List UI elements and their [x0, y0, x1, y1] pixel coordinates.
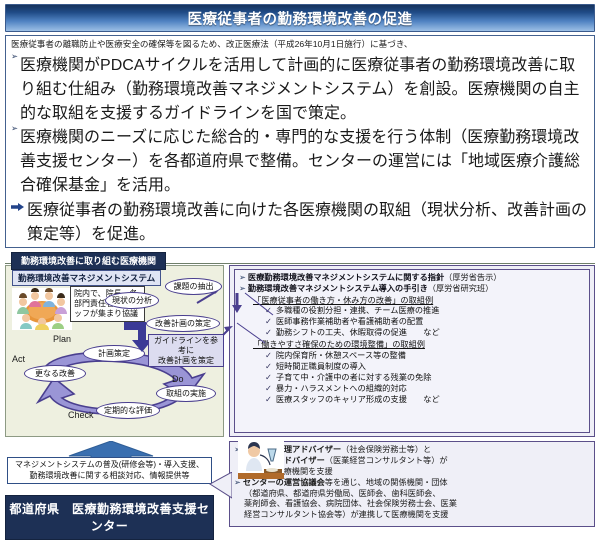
guideline-item-2-note: （厚労省研究班）: [428, 284, 494, 293]
check-icon: ✓: [265, 395, 272, 406]
intro-bullet-1: ➢ 医療機関がPDCAサイクルを活用して計画的に医療従事者の勤務環境改善に取り組…: [11, 51, 589, 123]
section-tab-hospitals: 勤務環境改善に取り組む医療機関: [11, 252, 166, 270]
group-2-check-3: ✓ 子育て中・介護中の者に対する残業の免除: [265, 373, 585, 384]
group-1-heading: 「医療従事者の働き方・休み方の改善」の取組例: [253, 296, 585, 307]
intro-conclusion: 医療従事者の勤務環境改善に向けた各医療機関の取組（現状分析、改善計画の策定等）を…: [11, 196, 589, 244]
role-2-orgs-line1: （都道府県、都道府県労働局、医師会、歯科医師会、: [244, 489, 441, 498]
mid-section: 勤務環境改善マネジメントシステム: [5, 265, 595, 437]
role-1-paren-1: （社会保険労務士等）と: [341, 445, 431, 454]
group-2-heading: 「働きやすさ確保のための環境整備」の取組例: [253, 340, 585, 351]
left-notch-icon: [204, 472, 232, 502]
bullet-mark-icon: ➢: [11, 123, 18, 134]
group-2-check-5: ✓ 医療スタッフのキャリア形成の支援 など: [265, 395, 585, 406]
intro-bullet-2: ➢ 医療機関のニーズに応じた総合的・専門的な支援を行う体制（医療勤務環境改善支援…: [11, 123, 589, 195]
center-support-column: マネジメントシステムの普及(研修会等)・導入支援、 勤務環境改善に関する相談対応…: [5, 441, 224, 527]
pdca-stage-plan: Plan: [53, 334, 71, 344]
role-2-orgs-line3: 経営コンサルタント協会等）が連携して医療機関を支援: [244, 510, 448, 519]
center-banner: 都道府県 医療勤務環境改善支援センター: [5, 495, 214, 540]
role-item-2: ➢ センターの運営協議会等を通じ、地域の関係機関・団体: [234, 478, 590, 489]
guideline-item-1: ➢ 医療勤務環境改善マネジメントシステムに関する指針（厚労省告示）: [239, 273, 585, 284]
group-1-check-1: ✓ 多職種の役割分担・連携、チーム医療の推進: [265, 306, 585, 317]
group-1-check-2-text: 医師事務作業補助者や看護補助者の配置: [276, 317, 423, 328]
pdca-stage-act: Act: [12, 354, 25, 364]
group-1-check-1-text: 多職種の役割分担・連携、チーム医療の推進: [276, 306, 440, 317]
right-arrow-icon: [11, 198, 24, 216]
guideline-callout-line1: ガイドラインを参考に: [154, 336, 218, 355]
check-icon: ✓: [265, 384, 272, 395]
guideline-callout: ガイドラインを参考に 改善計画を策定: [148, 334, 224, 367]
doctor-advisor-icon: [238, 441, 284, 479]
mgmt-system-label: 勤務環境改善マネジメントシステム: [12, 270, 161, 286]
group-2-check-3-text: 子育て中・介護中の者に対する残業の免除: [276, 373, 432, 384]
intro-bullet-2-text: 医療機関のニーズに応じた総合的・専門的な支援を行う体制（医療勤務環境改善支援セン…: [20, 123, 589, 195]
group-1-check-2: ✓ 医師事務作業補助者や看護補助者の配置: [265, 317, 585, 328]
group-1-check-3: ✓ 勤務シフトの工夫、休暇取得の促進 など: [265, 328, 585, 339]
section-tab-wrap: 勤務環境改善に取り組む医療機関: [5, 252, 595, 265]
check-icon: ✓: [265, 373, 272, 384]
page-title: 医療従事者の勤務環境改善の促進: [188, 8, 413, 29]
group-2-check-2: ✓ 短時間正職員制度の導入: [265, 362, 585, 373]
role-2-paren-1: 等を通じ、地域の関係機関・団体: [325, 478, 448, 487]
page-title-bar: 医療従事者の勤務環境改善の促進: [5, 4, 595, 32]
guideline-callout-line2: 改善計画を策定: [158, 356, 214, 365]
infographic-page: 医療従事者の勤務環境改善の促進 医療従事者の離職防止や医療安全の確保等を図るため…: [0, 0, 600, 422]
intro-lead: 医療従事者の離職防止や医療安全の確保等を図るため、改正医療法（平成26年10月1…: [11, 39, 589, 50]
bullet-mark-icon: ➢: [234, 478, 241, 489]
group-meeting-icon: [12, 288, 72, 330]
role-1-paren-2: （医業経営コンサルタント等）が: [325, 456, 448, 465]
pdca-stage-do: Do: [172, 374, 184, 384]
guideline-item-1-note: （厚労省告示）: [444, 273, 501, 282]
group-2-check-1: ✓ 院内保育所・休憩スペース等の整備: [265, 351, 585, 362]
guideline-item-2: ➢ 勤務環境改善マネジメントシステム導入の手引き（厚労省研究班）: [239, 284, 585, 295]
center-support-line2: 勤務環境改善に関する相談対応、情報提供等: [30, 471, 190, 480]
pdca-stage-check: Check: [68, 410, 94, 420]
role-item-1: ➢ 医療労務管理アドバイザー（社会保険労務士等）と 医業経営アドバイザー（医業経…: [234, 445, 590, 477]
center-support-text: マネジメントシステムの普及(研修会等)・導入支援、 勤務環境改善に関する相談対応…: [7, 457, 212, 484]
group-2-check-1-text: 院内保育所・休憩スペース等の整備: [276, 351, 406, 362]
group-2-check-4-text: 暴力・ハラスメントへの組織的対応: [276, 384, 407, 395]
group-2-check-2-text: 短時間正職員制度の導入: [276, 362, 366, 373]
group-1-check-3-text: 勤務シフトの工夫、休暇取得の促進 など: [276, 328, 440, 339]
group-2-check-4: ✓ 暴力・ハラスメントへの組織的対応: [265, 384, 585, 395]
intro-bullet-1-text: 医療機関がPDCAサイクルを活用して計画的に医療従事者の勤務環境改善に取り組む仕…: [20, 51, 589, 123]
bottom-section: マネジメントシステムの普及(研修会等)・導入支援、 勤務環境改善に関する相談対応…: [5, 441, 595, 527]
role-2-orgs-line2: 薬剤師会、看護協会、病院団体、社会保険労務士会、医業: [244, 499, 457, 508]
role-2-orgs: （都道府県、都道府県労働局、医師会、歯科医師会、 薬剤師会、看護協会、病院団体、…: [244, 489, 590, 521]
intro-conclusion-text: 医療従事者の勤務環境改善に向けた各医療機関の取組（現状分析、改善計画の策定等）を…: [27, 196, 589, 244]
group-2-check-5-text: 医療スタッフのキャリア形成の支援 など: [276, 395, 440, 406]
intro-box: 医療従事者の離職防止や医療安全の確保等を図るため、改正医療法（平成26年10月1…: [5, 35, 595, 248]
bullet-mark-icon: ➢: [11, 51, 18, 62]
center-support-line1: マネジメントシステムの普及(研修会等)・導入支援、: [15, 460, 204, 469]
guidelines-inner: ➢ 医療勤務環境改善マネジメントシステムに関する指針（厚労省告示） ➢ 勤務環境…: [234, 269, 590, 433]
